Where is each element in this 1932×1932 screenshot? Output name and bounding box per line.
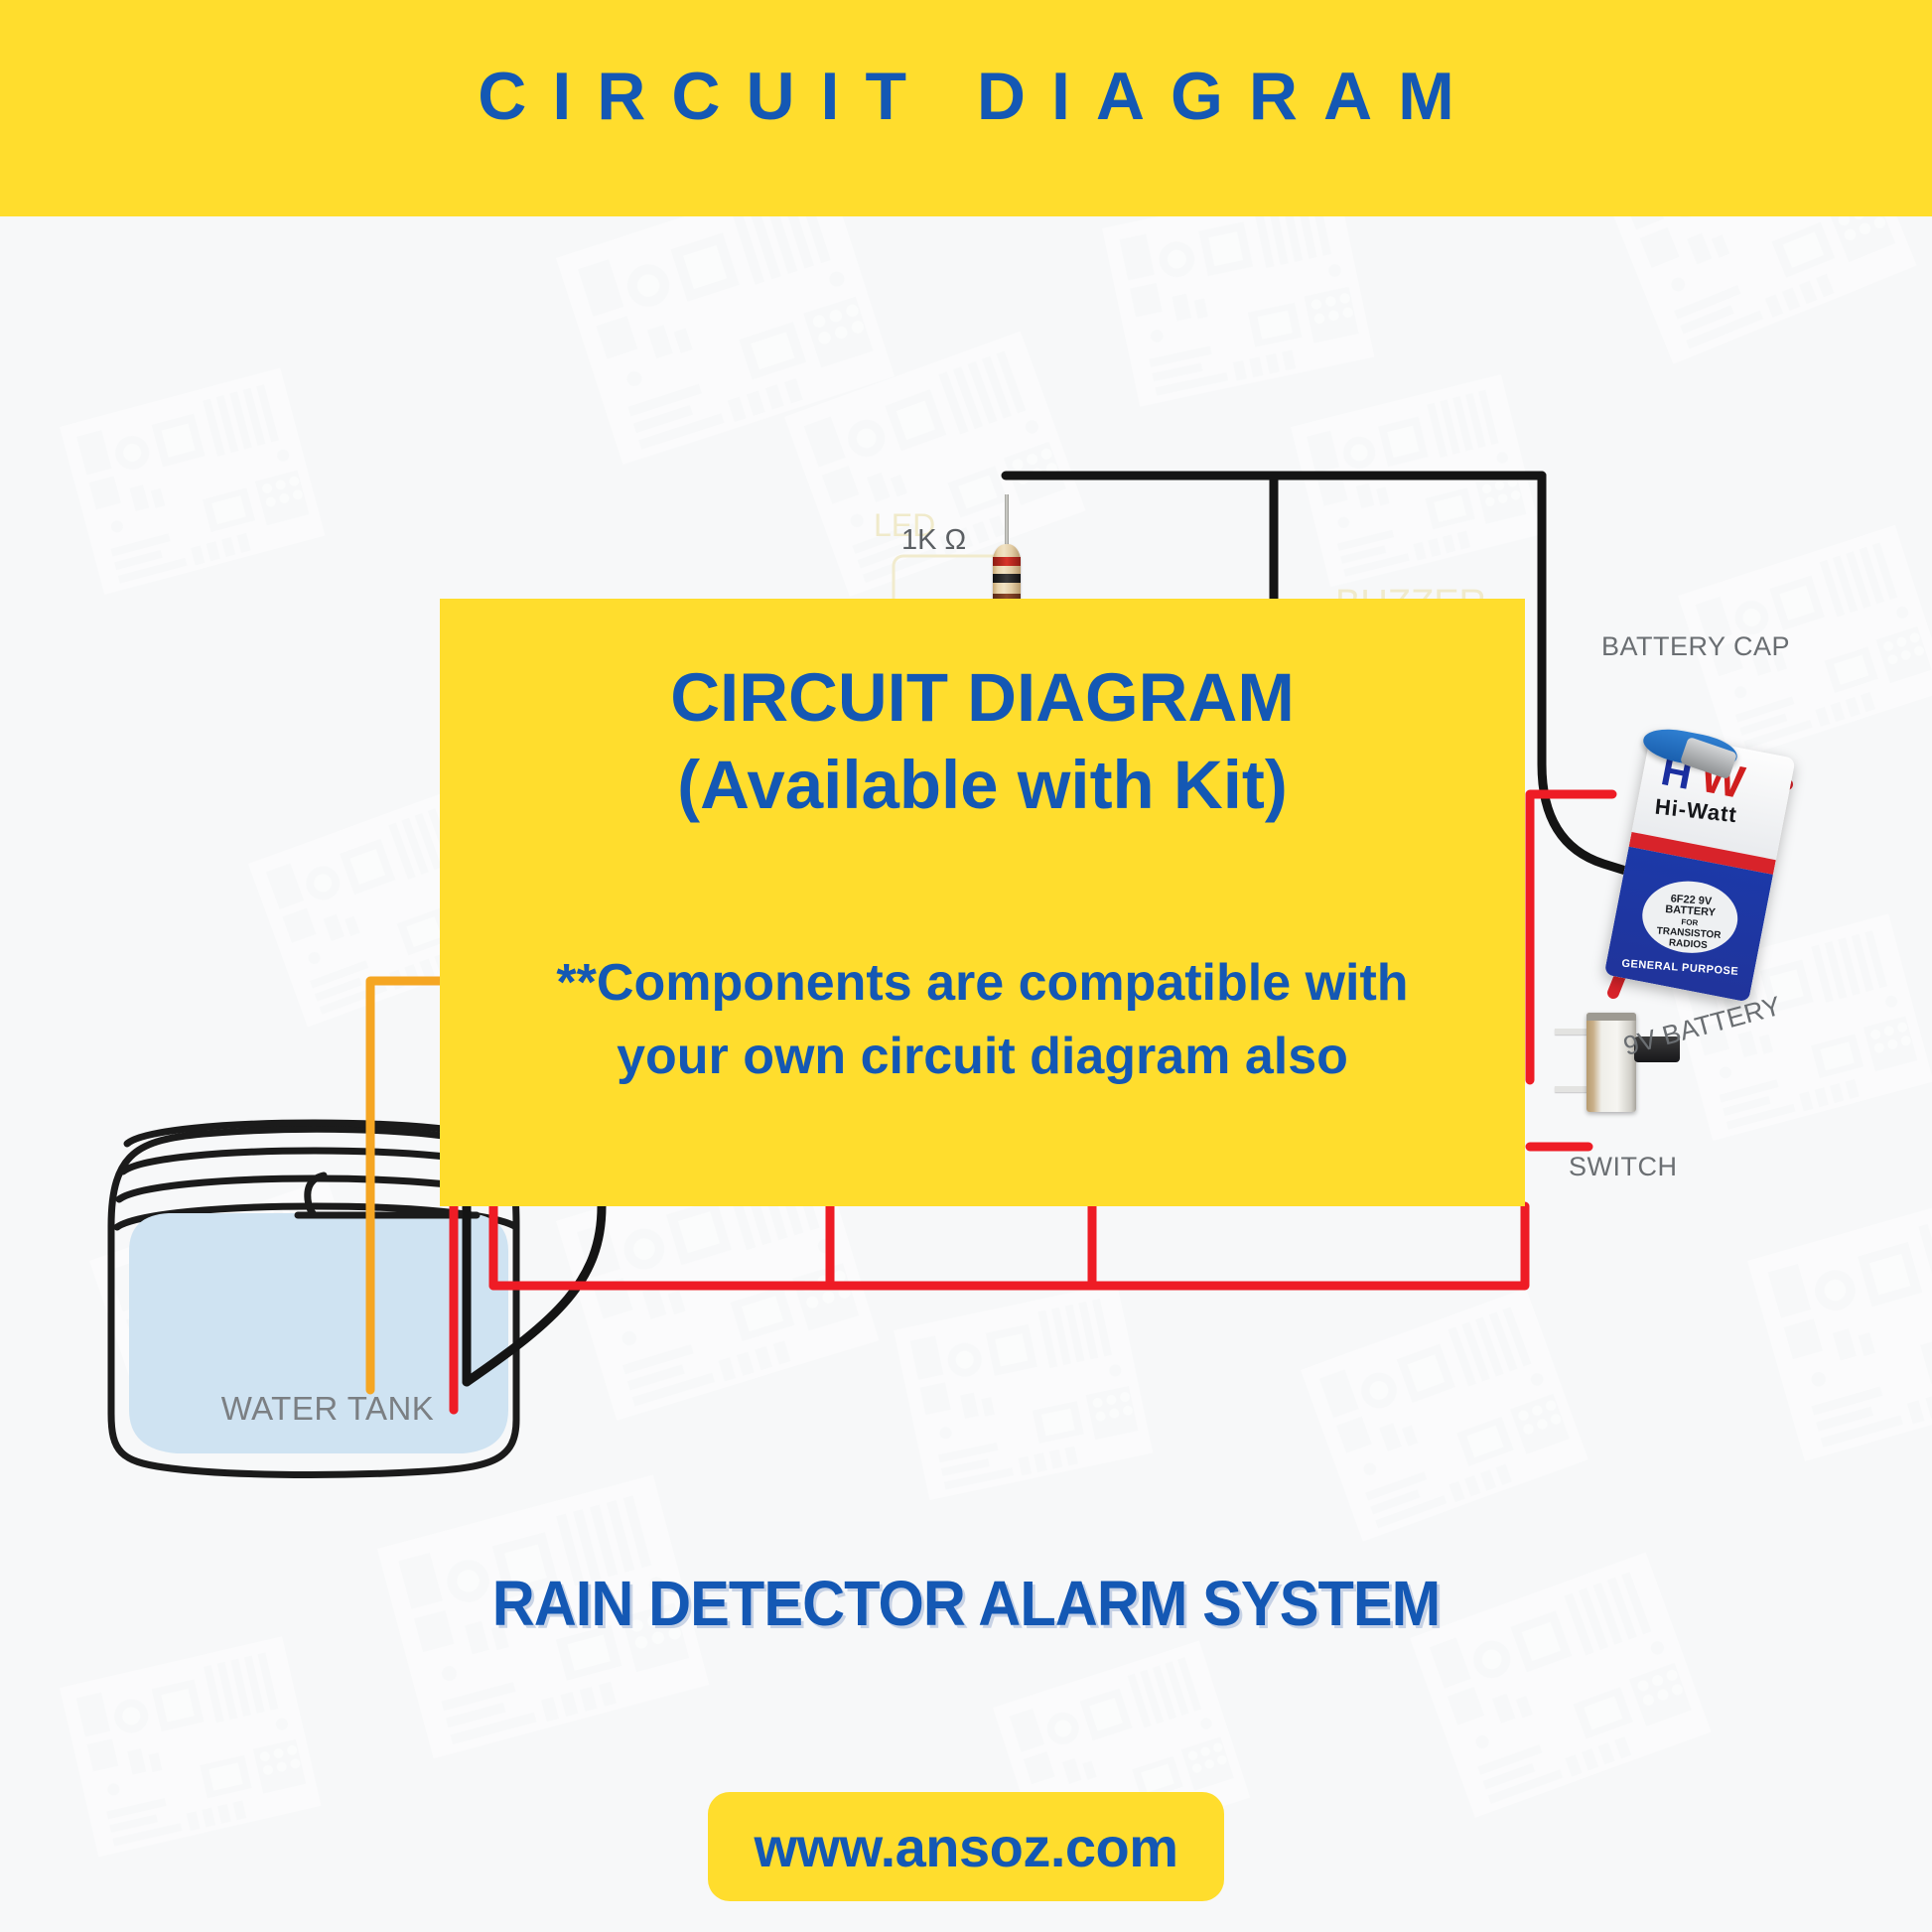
battery-general-purpose: GENERAL PURPOSE xyxy=(1616,957,1744,978)
battery-9v: H W Hi-Watt 6F22 9V BATTERY FOR TRANSIST… xyxy=(1618,675,1837,1003)
battery-spec-oval: 6F22 9V BATTERY FOR TRANSISTOR RADIOS xyxy=(1640,878,1740,956)
website-url: www.ansoz.com xyxy=(754,1815,1177,1879)
battery-cap-label: BATTERY CAP xyxy=(1601,631,1790,662)
kit-info-panel: CIRCUIT DIAGRAM (Available with Kit) **C… xyxy=(440,599,1525,1206)
battery-body: H W Hi-Watt 6F22 9V BATTERY FOR TRANSIST… xyxy=(1604,731,1796,1003)
switch-body-top xyxy=(1587,1013,1636,1021)
switch-label: SWITCH xyxy=(1569,1152,1677,1182)
battery-blue-panel: 6F22 9V BATTERY FOR TRANSISTOR RADIOS GE… xyxy=(1604,847,1773,1003)
website-button[interactable]: www.ansoz.com xyxy=(708,1792,1224,1901)
panel-note-line2: your own circuit diagram also xyxy=(480,1020,1485,1093)
resistor-band-black xyxy=(993,574,1021,583)
resistor-lead-top xyxy=(1005,494,1009,548)
panel-note-line1: **Components are compatible with xyxy=(480,946,1485,1020)
poster-canvas: BUZZER LED BC547 BC547 100 Ω E B C E B C xyxy=(0,0,1932,1932)
switch-body xyxy=(1587,1013,1636,1112)
switch-pin-top xyxy=(1555,1029,1588,1035)
panel-subtitle: (Available with Kit) xyxy=(440,746,1525,825)
water-tank-label: WATER TANK xyxy=(179,1390,477,1428)
switch-pin-bottom xyxy=(1555,1086,1588,1092)
panel-title: CIRCUIT DIAGRAM xyxy=(440,658,1525,738)
panel-note: **Components are compatible with your ow… xyxy=(480,946,1485,1093)
project-title: RAIN DETECTOR ALARM SYSTEM xyxy=(68,1567,1864,1640)
resistor-band-red xyxy=(993,557,1021,566)
resistor-label: 1K Ω xyxy=(901,524,966,557)
